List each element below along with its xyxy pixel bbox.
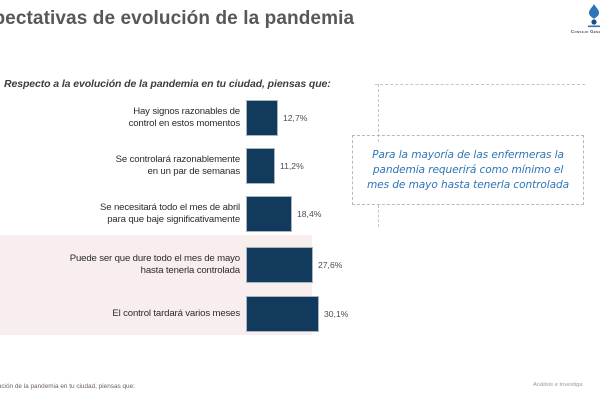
bar-track: 18,4%	[246, 196, 360, 232]
bar-fill[interactable]	[246, 100, 278, 136]
bar-label-line1: Se necesitará todo el mes de abril	[100, 202, 240, 213]
footer-credit: Análisis e Investiga	[533, 382, 583, 388]
logo-caption: Consejo General	[571, 29, 600, 34]
bar-label-line1: Hay signos razonables de	[133, 106, 240, 117]
bar-value: 30,1%	[319, 309, 348, 319]
bar-label-line1: Puede ser que dure todo el mes de mayo	[70, 253, 240, 264]
bar-label-line1: El control tardará varios meses	[112, 308, 240, 319]
callout-box: Para la mayoría de las enfermeras la pan…	[352, 135, 584, 205]
bar-label-line2: hasta tenerla controlada	[141, 265, 240, 276]
bar-chart: Hay signos razonables de control en esto…	[0, 98, 360, 338]
bar-value: 12,7%	[278, 113, 307, 123]
bar-label: Se controlará razonablemente en un par d…	[0, 154, 246, 178]
callout-text: Para la mayoría de las enfermeras la pan…	[353, 148, 583, 193]
connector-line-vertical	[378, 84, 379, 142]
bar-value: 18,4%	[292, 209, 321, 219]
bar-value: 27,6%	[313, 260, 342, 270]
footer-question-note: a la evolución de la pandemia en tu ciud…	[0, 383, 135, 390]
table-row[interactable]: Se controlará razonablemente en un par d…	[0, 146, 360, 186]
chart-question: Respecto a la evolución de la pandemia e…	[4, 78, 331, 90]
bar-label-line2: control en estos momentos	[129, 118, 240, 129]
organization-logo: Consejo General	[538, 4, 600, 40]
bar-label-line1: Se controlará razonablemente	[116, 154, 240, 165]
bar-track: 12,7%	[246, 100, 360, 136]
table-row[interactable]: El control tardará varios meses 30,1%	[0, 294, 360, 334]
page-title: Expectativas de evolución de la pandemia	[0, 8, 354, 30]
bar-label: Hay signos razonables de control en esto…	[0, 106, 246, 130]
bar-track: 11,2%	[246, 148, 360, 184]
bar-value: 11,2%	[275, 161, 304, 171]
bar-track: 30,1%	[246, 296, 360, 332]
bar-label-line2: para que baje significativamente	[107, 214, 240, 225]
bar-fill[interactable]	[246, 148, 275, 184]
table-row[interactable]: Se necesitará todo el mes de abril para …	[0, 194, 360, 234]
connector-line-bottom	[378, 205, 379, 227]
table-row[interactable]: Hay signos razonables de control en esto…	[0, 98, 360, 138]
logo-mark-icon	[586, 4, 600, 28]
bar-fill[interactable]	[246, 196, 292, 232]
bar-label: Puede ser que dure todo el mes de mayo h…	[0, 253, 246, 277]
bar-fill[interactable]	[246, 296, 319, 332]
table-row[interactable]: Puede ser que dure todo el mes de mayo h…	[0, 245, 360, 285]
connector-line-horizontal	[375, 84, 585, 85]
bar-fill[interactable]	[246, 247, 313, 283]
bar-label: El control tardará varios meses	[0, 308, 246, 320]
bar-label-line2: en un par de semanas	[148, 166, 240, 177]
bar-track: 27,6%	[246, 247, 360, 283]
bar-label: Se necesitará todo el mes de abril para …	[0, 202, 246, 226]
